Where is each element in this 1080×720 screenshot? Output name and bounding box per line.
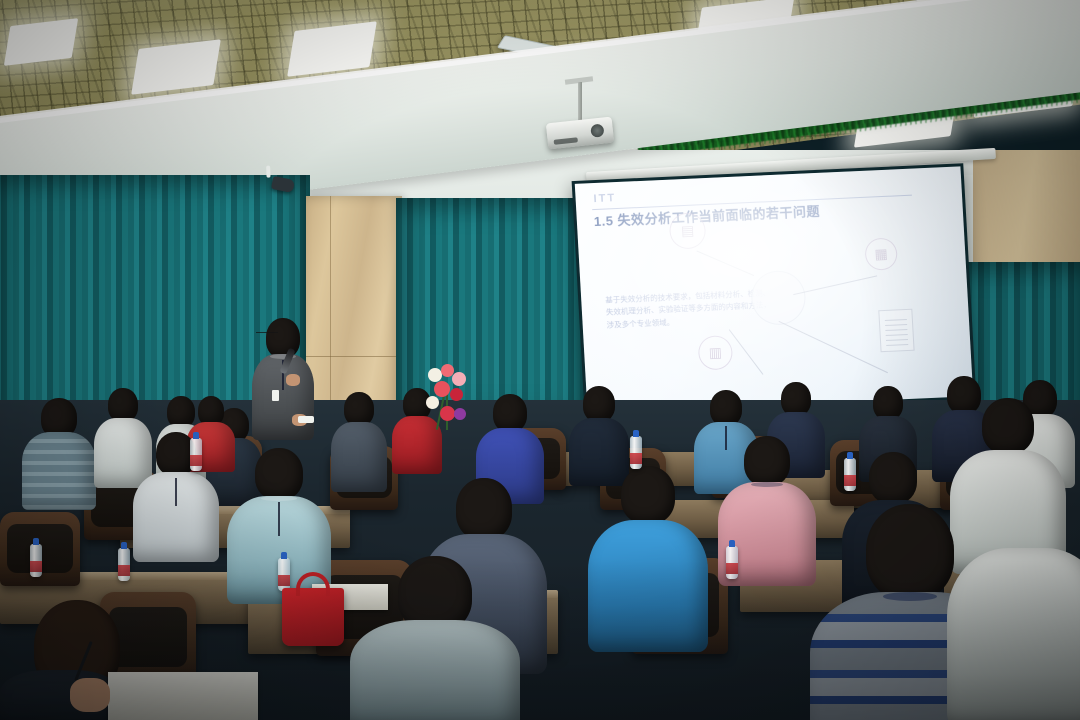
attendee-head: [493, 394, 527, 432]
flower-petal: [434, 381, 450, 397]
attendee-head: [869, 452, 917, 504]
lanyard: [278, 502, 280, 536]
slide-title: 1.5 失效分析工作当前面临的若干问题: [593, 201, 820, 230]
attendee-head: [744, 436, 790, 486]
attendee-torso-gray: [331, 422, 387, 492]
flower-arrangement: [424, 364, 470, 430]
red-tote-bag: [282, 588, 344, 646]
lanyard: [175, 478, 177, 506]
slide-body-text: 基于失效分析的技术要求，包括材料分析、检测、失效机理分析、实验验证等多方面的内容…: [605, 287, 775, 332]
attendee-head: [710, 390, 742, 426]
attendee-collar: [883, 592, 937, 601]
water-bottle: [190, 438, 202, 471]
attendee-torso-white-shirt: [947, 548, 1080, 720]
node-lab-icon: ▦: [864, 237, 898, 270]
slide-diagram-link-4: [729, 329, 764, 375]
writing-hand: [70, 678, 110, 712]
presentation-clicker: [298, 416, 314, 423]
attendee-torso-cyan-tshirt: [588, 520, 708, 652]
slide-brand-logo: ITT: [593, 192, 616, 205]
node-report-glyph: ▥: [708, 344, 722, 362]
attendee-head: [781, 382, 811, 416]
projection-screen: ITT 1.5 失效分析工作当前面临的若干问题 基于失效分析的技术要求，包括材料…: [572, 163, 977, 416]
flower-petal: [454, 408, 466, 420]
list-item: [726, 436, 808, 582]
flower-petal: [428, 368, 442, 382]
node-analysis-glyph: ▤: [680, 222, 694, 240]
notepad: [108, 672, 258, 720]
attendee-head: [344, 392, 374, 426]
node-document-icon: [878, 309, 914, 352]
water-bottle: [726, 546, 738, 579]
attendee-head: [456, 478, 512, 540]
node-lab-glyph: ▦: [874, 245, 888, 263]
node-report-icon: ▥: [697, 335, 733, 370]
conference-room-photo: ITT 1.5 失效分析工作当前面临的若干问题 基于失效分析的技术要求，包括材料…: [0, 0, 1080, 720]
attendee-torso-striped-polo: [22, 432, 96, 510]
list-item: [598, 466, 698, 646]
presenter-hand-right: [286, 374, 300, 386]
water-bottle: [278, 558, 290, 591]
projection-screen-surface: ITT 1.5 失效分析工作当前面临的若干问题 基于失效分析的技术要求，包括材料…: [575, 166, 973, 413]
list-item: [360, 556, 510, 720]
wood-wall-panel-upper-right: [973, 150, 1080, 270]
attendee-collar: [751, 482, 783, 487]
attendee-head: [873, 386, 903, 420]
water-bottle: [118, 548, 130, 581]
attendee-head: [108, 388, 138, 422]
flower-petal: [452, 372, 466, 386]
water-bottle: [30, 544, 42, 577]
slide-diagram-link-2: [793, 275, 877, 295]
water-bottle: [844, 458, 856, 491]
attendee-head: [583, 386, 615, 422]
attendee-head: [982, 398, 1034, 454]
projector-mount-pole: [578, 82, 582, 124]
list-item: [334, 392, 384, 488]
slide-diagram-link-1: [697, 251, 755, 277]
attendee-head: [866, 504, 954, 600]
flower-petal: [426, 396, 439, 409]
slide-diagram-link-3: [779, 321, 888, 373]
glasses-icon: [256, 332, 278, 338]
flower-petal: [450, 388, 463, 401]
attendee-torso-lightblue-foreground: [350, 620, 520, 720]
list-item: [28, 398, 90, 508]
attendee-head: [255, 448, 303, 500]
flower-petal: [440, 406, 455, 421]
water-bottle: [630, 436, 642, 469]
list-item: [962, 548, 1080, 720]
attendee-head: [621, 466, 675, 524]
name-badge: [272, 390, 279, 401]
attendee-collar: [261, 496, 297, 501]
